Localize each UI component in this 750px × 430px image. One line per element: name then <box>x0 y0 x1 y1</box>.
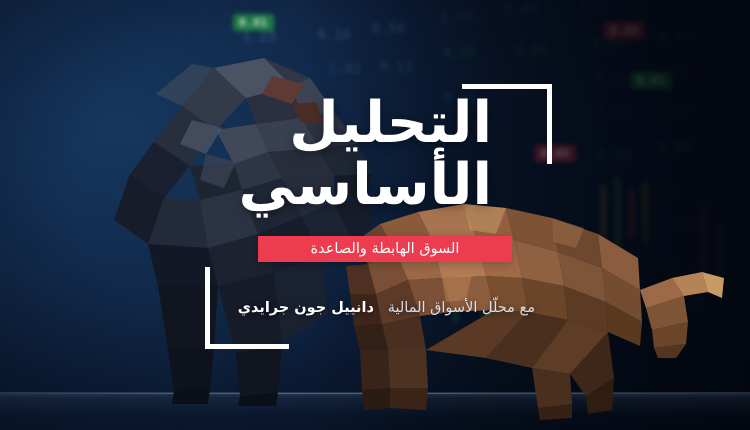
subtitle-banner-text: السوق الهابطة والصاعدة <box>311 241 460 257</box>
banner-canvas: 0.811.230.100.542.331.820.121.732.031.97… <box>0 0 750 430</box>
headline-line-1: التحليل <box>150 96 492 152</box>
headline: التحليل الأساسي <box>150 96 492 214</box>
byline-analyst-name: دانييل جون جرايدي <box>238 300 374 316</box>
bracket-top-right-horizontal <box>462 84 552 89</box>
bracket-top-right-vertical <box>547 84 552 164</box>
byline-prefix: مع محلّل الأسواق المالية <box>388 300 535 316</box>
byline: مع محلّل الأسواق المالية دانييل جون جراي… <box>205 300 535 316</box>
bracket-bottom-left-horizontal <box>205 344 289 349</box>
headline-line-2: الأساسي <box>150 158 492 214</box>
subtitle-banner: السوق الهابطة والصاعدة <box>258 236 512 262</box>
